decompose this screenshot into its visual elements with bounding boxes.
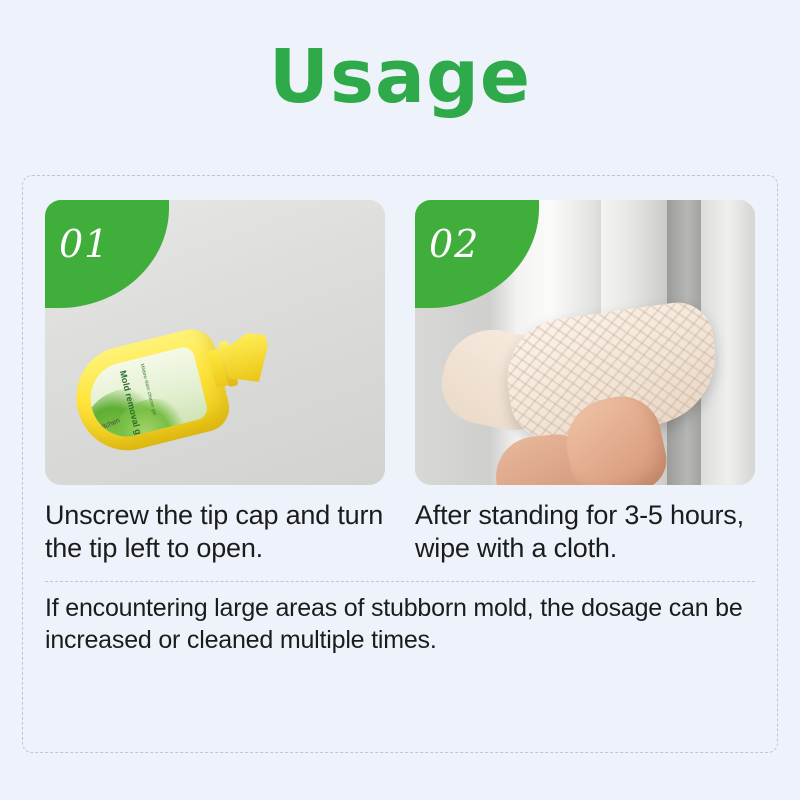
step-card-02: 02 After standing for 3-5 hours, wipe wi…: [415, 200, 755, 565]
step-card-01: Mold removal gel Mildew stain cleaner ge…: [45, 200, 385, 565]
section-divider: [45, 581, 755, 582]
steps-row: Mold removal gel Mildew stain cleaner ge…: [45, 200, 755, 565]
step-02-photo: 02: [415, 200, 755, 485]
step-01-caption: Unscrew the tip cap and turn the tip lef…: [45, 499, 385, 565]
page-title: Usage: [0, 0, 800, 114]
instructions-panel: Mold removal gel Mildew stain cleaner ge…: [22, 175, 778, 753]
footnote-text: If encountering large areas of stubborn …: [45, 592, 755, 656]
step-number-02: 02: [429, 222, 479, 266]
step-number-01: 01: [59, 222, 109, 266]
step-02-caption: After standing for 3-5 hours, wipe with …: [415, 499, 755, 565]
usage-instruction-page: Usage Mold removal gel Mildew stain clea…: [0, 0, 800, 800]
step-01-photo: Mold removal gel Mildew stain cleaner ge…: [45, 200, 385, 485]
bottle-label: Mold removal gel Mildew stain cleaner ge…: [83, 345, 210, 444]
